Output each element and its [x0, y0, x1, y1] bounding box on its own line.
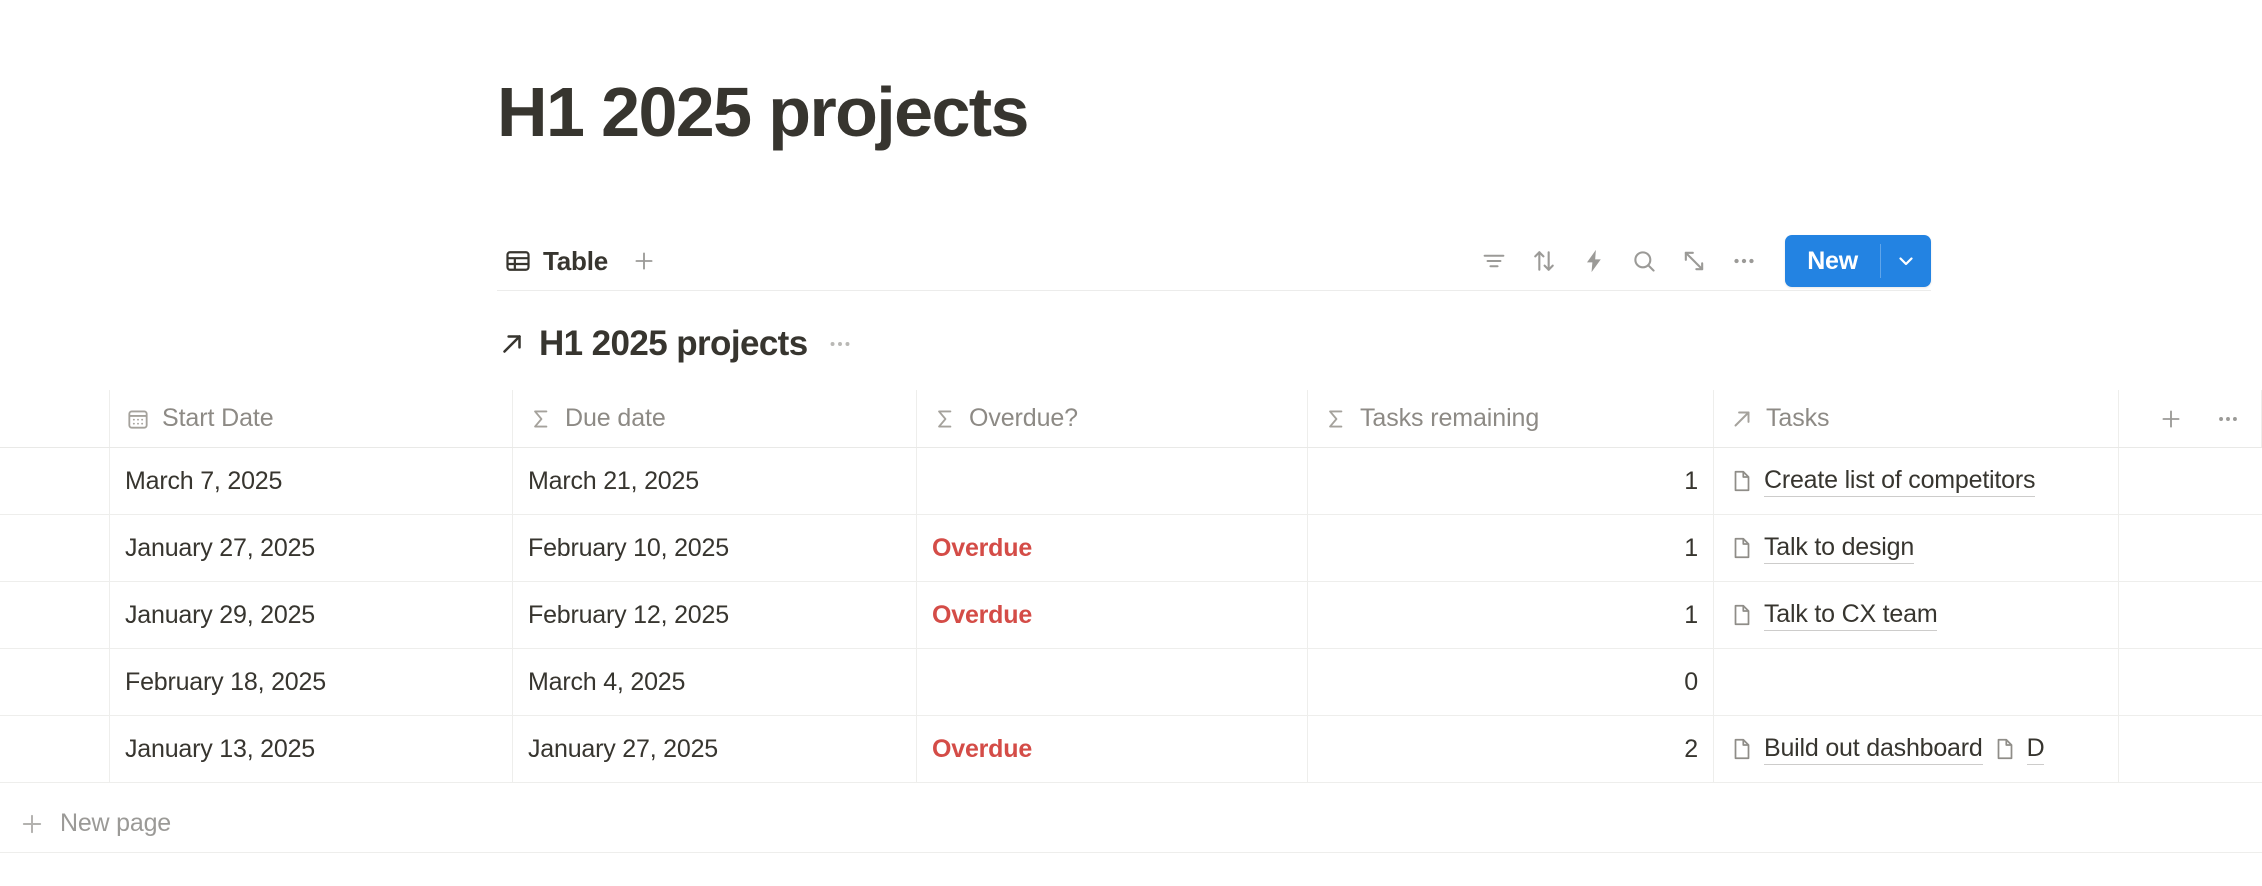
- database-title[interactable]: H1 2025 projects: [539, 324, 808, 364]
- plus-icon: [18, 810, 46, 838]
- cell-tasks[interactable]: Talk to CX team: [1714, 582, 2119, 648]
- cell-overdue[interactable]: [917, 649, 1308, 715]
- sort-button[interactable]: [1519, 236, 1569, 286]
- cell-overdue[interactable]: Overdue: [917, 515, 1308, 581]
- cell-name[interactable]: [0, 448, 110, 514]
- arrow-up-right-icon: [1729, 406, 1755, 432]
- cell-overdue[interactable]: Overdue: [917, 582, 1308, 648]
- cell-start-date[interactable]: January 29, 2025: [110, 582, 513, 648]
- cell-name[interactable]: [0, 716, 110, 782]
- column-header-start-date[interactable]: Start Date: [110, 390, 513, 447]
- cell-tasks-remaining-value: 1: [1684, 534, 1698, 563]
- column-header-overdue[interactable]: Overdue?: [917, 390, 1308, 447]
- add-column-button[interactable]: [2153, 397, 2189, 441]
- cell-due-date-value: February 12, 2025: [528, 601, 729, 630]
- cell-tasks-remaining[interactable]: 2: [1308, 716, 1714, 782]
- calendar-icon: [125, 406, 151, 432]
- page-icon: [1729, 535, 1755, 561]
- cell-tasks-remaining-value: 1: [1684, 467, 1698, 496]
- column-header-tasks-label: Tasks: [1766, 404, 1829, 433]
- cell-name[interactable]: [0, 649, 110, 715]
- table-row[interactable]: January 13, 2025 January 27, 2025 Overdu…: [0, 716, 2262, 783]
- cell-due-date[interactable]: March 21, 2025: [513, 448, 917, 514]
- arrow-up-right-icon: [497, 329, 527, 359]
- cell-start-date-value: February 18, 2025: [125, 668, 326, 697]
- task-relation-label: D: [2027, 734, 2045, 765]
- search-button[interactable]: [1619, 236, 1669, 286]
- cell-start-date[interactable]: February 18, 2025: [110, 649, 513, 715]
- cell-overdue-value: Overdue: [932, 735, 1032, 764]
- table-icon: [504, 247, 532, 275]
- automation-button[interactable]: [1569, 236, 1619, 286]
- sigma-icon: [528, 406, 554, 432]
- cell-overdue[interactable]: Overdue: [917, 716, 1308, 782]
- cell-start-date[interactable]: January 27, 2025: [110, 515, 513, 581]
- column-header-due-date[interactable]: Due date: [513, 390, 917, 447]
- more-options-button[interactable]: [1719, 236, 1769, 286]
- table-row[interactable]: January 27, 2025 February 10, 2025 Overd…: [0, 515, 2262, 582]
- task-relation-label: Create list of competitors: [1764, 466, 2035, 497]
- table-header-tools: [2119, 390, 2262, 447]
- new-button[interactable]: New: [1785, 235, 1880, 287]
- cell-overflow: [2119, 448, 2262, 514]
- cell-due-date[interactable]: February 12, 2025: [513, 582, 917, 648]
- table-row[interactable]: February 18, 2025 March 4, 2025 0: [0, 649, 2262, 716]
- cell-due-date-value: March 21, 2025: [528, 467, 699, 496]
- task-relation-chip[interactable]: Create list of competitors: [1729, 466, 2035, 497]
- database-table: Start Date Due date: [0, 390, 2262, 783]
- column-header-name[interactable]: [0, 390, 110, 447]
- page-title: H1 2025 projects: [497, 72, 1028, 153]
- tab-table-label: Table: [543, 246, 608, 277]
- cell-tasks[interactable]: [1714, 649, 2119, 715]
- cell-tasks-remaining-value: 1: [1684, 601, 1698, 630]
- new-button-group: New: [1785, 235, 1931, 287]
- new-page-row[interactable]: New page: [0, 795, 2262, 853]
- filter-button[interactable]: [1469, 236, 1519, 286]
- page-icon: [1992, 736, 2018, 762]
- cell-due-date-value: March 4, 2025: [528, 668, 685, 697]
- expand-button[interactable]: [1669, 236, 1719, 286]
- table-header-row: Start Date Due date: [0, 390, 2262, 448]
- cell-overflow: [2119, 582, 2262, 648]
- task-relation-label: Talk to design: [1764, 533, 1914, 564]
- cell-tasks-remaining[interactable]: 1: [1308, 515, 1714, 581]
- lightning-icon: [1580, 247, 1608, 275]
- column-header-tasks[interactable]: Tasks: [1714, 390, 2119, 447]
- task-relation-chip[interactable]: D: [1992, 734, 2045, 765]
- cell-start-date-value: January 27, 2025: [125, 534, 315, 563]
- sigma-icon: [932, 406, 958, 432]
- table-options-button[interactable]: [2211, 397, 2247, 441]
- cell-start-date-value: January 13, 2025: [125, 735, 315, 764]
- column-header-start-date-label: Start Date: [162, 404, 274, 433]
- column-header-tasks-remaining-label: Tasks remaining: [1360, 404, 1539, 433]
- search-icon: [1630, 247, 1658, 275]
- chevron-down-icon: [1894, 249, 1918, 273]
- new-button-dropdown[interactable]: [1881, 235, 1931, 287]
- cell-overflow: [2119, 716, 2262, 782]
- plus-icon: [631, 248, 657, 274]
- cell-due-date-value: February 10, 2025: [528, 534, 729, 563]
- cell-start-date[interactable]: January 13, 2025: [110, 716, 513, 782]
- expand-arrows-icon: [1680, 247, 1708, 275]
- notion-page: H1 2025 projects Table: [0, 0, 2262, 886]
- cell-start-date[interactable]: March 7, 2025: [110, 448, 513, 514]
- cell-tasks-remaining[interactable]: 0: [1308, 649, 1714, 715]
- cell-tasks-remaining[interactable]: 1: [1308, 582, 1714, 648]
- tab-table[interactable]: Table: [497, 241, 615, 282]
- cell-due-date[interactable]: February 10, 2025: [513, 515, 917, 581]
- sort-arrows-icon: [1530, 247, 1558, 275]
- column-header-due-date-label: Due date: [565, 404, 666, 433]
- cell-start-date-value: March 7, 2025: [125, 467, 282, 496]
- cell-tasks-remaining-value: 0: [1684, 668, 1698, 697]
- new-page-label: New page: [60, 809, 171, 838]
- toolbar-actions: New: [1469, 235, 1931, 287]
- task-relation-label: Talk to CX team: [1764, 600, 1937, 631]
- table-row[interactable]: January 29, 2025 February 12, 2025 Overd…: [0, 582, 2262, 649]
- cell-overdue-value: Overdue: [932, 601, 1032, 630]
- toolbar-divider: [497, 290, 1931, 291]
- cell-start-date-value: January 29, 2025: [125, 601, 315, 630]
- page-icon: [1729, 602, 1755, 628]
- view-toolbar: Table: [497, 232, 1931, 290]
- cell-name[interactable]: [0, 515, 110, 581]
- table-row[interactable]: March 7, 2025 March 21, 2025 1: [0, 448, 2262, 515]
- cell-overflow: [2119, 515, 2262, 581]
- ellipsis-icon: [1730, 247, 1758, 275]
- column-header-overdue-label: Overdue?: [969, 404, 1078, 433]
- database-menu-button[interactable]: [820, 330, 854, 358]
- cell-overdue-value: Overdue: [932, 534, 1032, 563]
- cell-overflow: [2119, 649, 2262, 715]
- cell-tasks[interactable]: Talk to design: [1714, 515, 2119, 581]
- task-relation-chip[interactable]: Build out dashboard: [1729, 734, 1983, 765]
- add-view-button[interactable]: [623, 240, 665, 282]
- task-relation-chip[interactable]: Talk to design: [1729, 533, 1914, 564]
- cell-overdue[interactable]: [917, 448, 1308, 514]
- task-relation-label: Build out dashboard: [1764, 734, 1983, 765]
- page-icon: [1729, 468, 1755, 494]
- view-tabs: Table: [497, 240, 665, 282]
- cell-due-date[interactable]: March 4, 2025: [513, 649, 917, 715]
- cell-due-date[interactable]: January 27, 2025: [513, 716, 917, 782]
- page-icon: [1729, 736, 1755, 762]
- column-header-tasks-remaining[interactable]: Tasks remaining: [1308, 390, 1714, 447]
- cell-tasks-remaining[interactable]: 1: [1308, 448, 1714, 514]
- cell-due-date-value: January 27, 2025: [528, 735, 718, 764]
- database-title-row: H1 2025 projects: [497, 320, 854, 368]
- cell-tasks-remaining-value: 2: [1684, 735, 1698, 764]
- task-relation-chip[interactable]: Talk to CX team: [1729, 600, 1937, 631]
- sigma-icon: [1323, 406, 1349, 432]
- filter-icon: [1480, 247, 1508, 275]
- cell-name[interactable]: [0, 582, 110, 648]
- cell-tasks[interactable]: Build out dashboard D: [1714, 716, 2119, 782]
- cell-tasks[interactable]: Create list of competitors: [1714, 448, 2119, 514]
